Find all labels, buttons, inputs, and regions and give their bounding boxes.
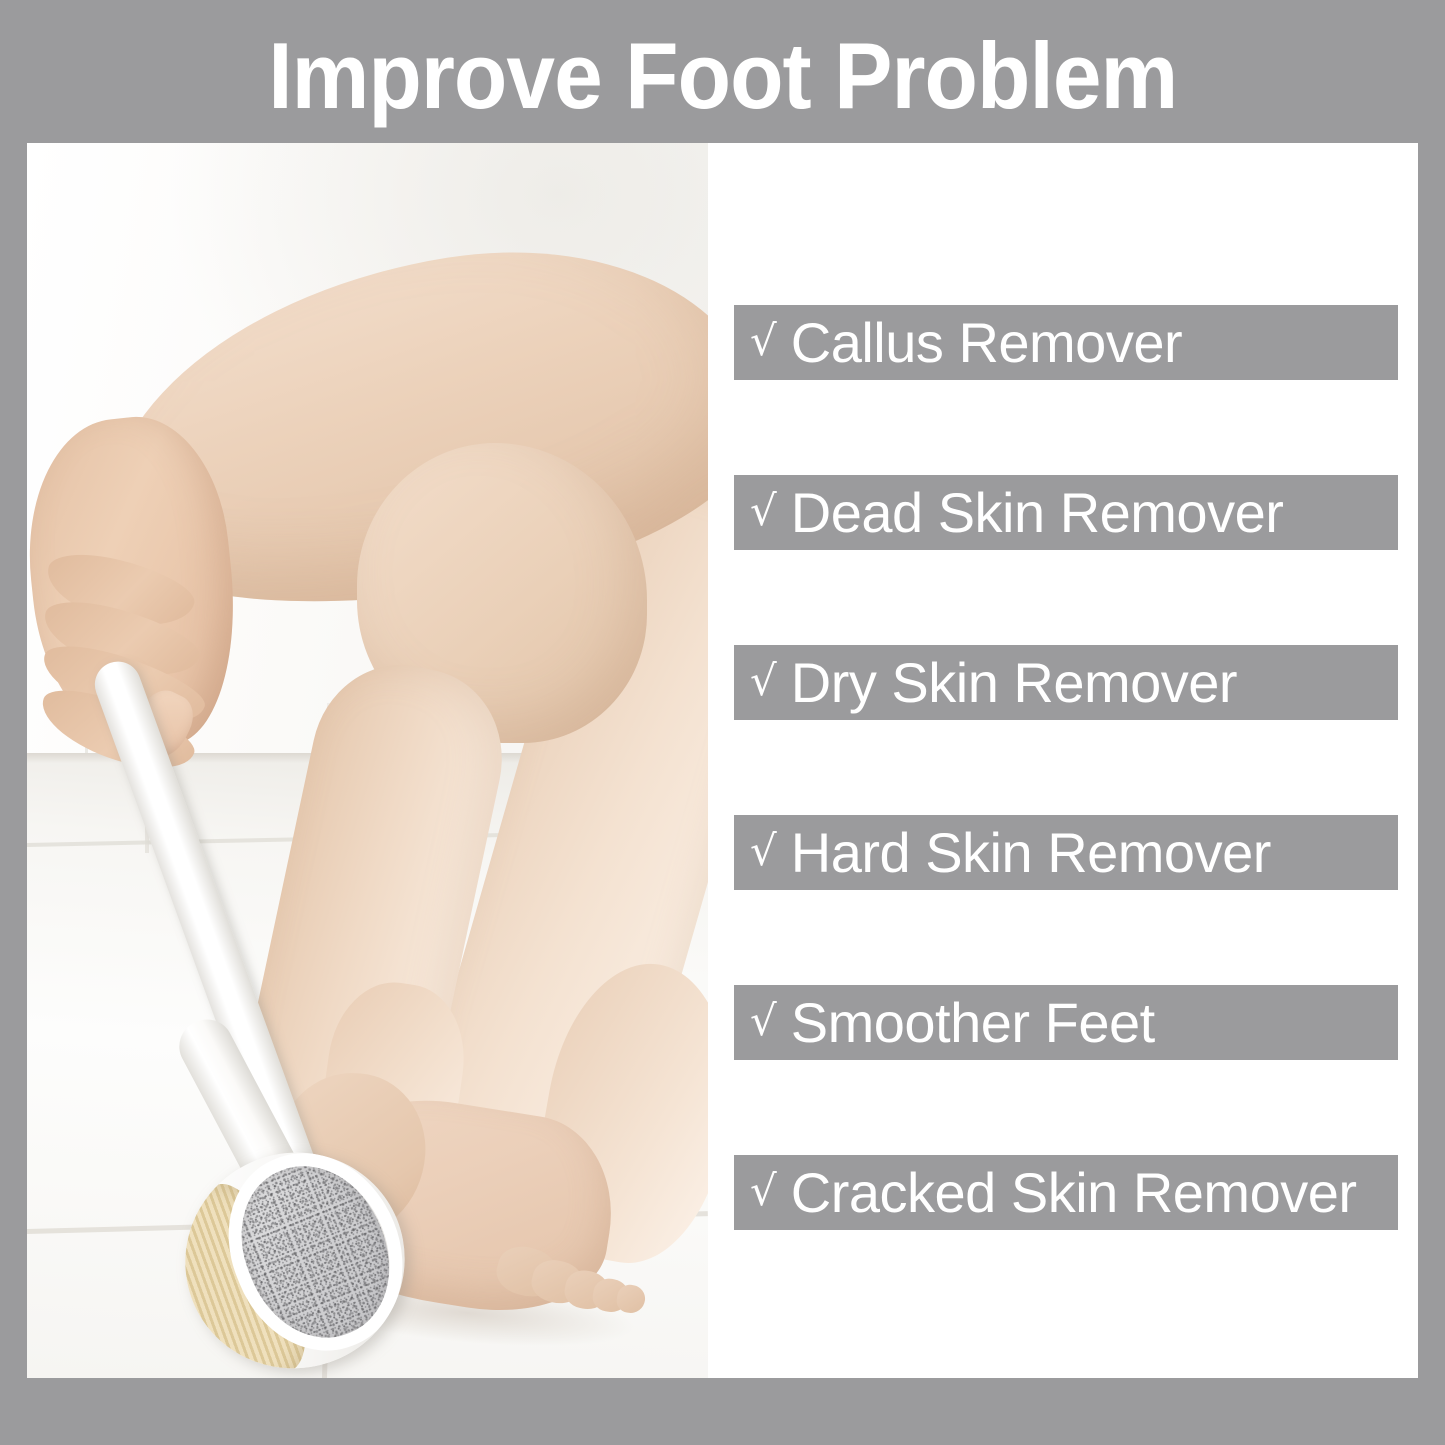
- check-icon: √: [750, 490, 777, 532]
- feature-item-dead-skin-remover[interactable]: √ Dead Skin Remover: [734, 475, 1398, 550]
- feature-label: Cracked Skin Remover: [791, 1165, 1357, 1221]
- check-icon: √: [750, 830, 777, 872]
- feature-item-hard-skin-remover[interactable]: √ Hard Skin Remover: [734, 815, 1398, 890]
- feature-label: Dead Skin Remover: [791, 485, 1284, 541]
- check-icon: √: [750, 1170, 777, 1212]
- feature-item-cracked-skin-remover[interactable]: √ Cracked Skin Remover: [734, 1155, 1398, 1230]
- feature-label: Smoother Feet: [791, 995, 1155, 1051]
- page-title: Improve Foot Problem: [268, 29, 1177, 123]
- feature-label: Hard Skin Remover: [791, 825, 1271, 881]
- feature-label: Callus Remover: [791, 315, 1182, 371]
- check-icon: √: [750, 1000, 777, 1042]
- feature-item-smoother-feet[interactable]: √ Smoother Feet: [734, 985, 1398, 1060]
- feature-item-callus-remover[interactable]: √ Callus Remover: [734, 305, 1398, 380]
- product-feature-poster: Improve Foot Problem: [0, 0, 1445, 1445]
- feature-label: Dry Skin Remover: [791, 655, 1237, 711]
- product-photo: [27, 143, 708, 1378]
- check-icon: √: [750, 320, 777, 362]
- content-panel: √ Callus Remover √ Dead Skin Remover √ D…: [27, 143, 1418, 1378]
- check-icon: √: [750, 660, 777, 702]
- poster-title-bar: Improve Foot Problem: [0, 0, 1445, 143]
- feature-item-dry-skin-remover[interactable]: √ Dry Skin Remover: [734, 645, 1398, 720]
- feature-list: √ Callus Remover √ Dead Skin Remover √ D…: [708, 143, 1418, 1378]
